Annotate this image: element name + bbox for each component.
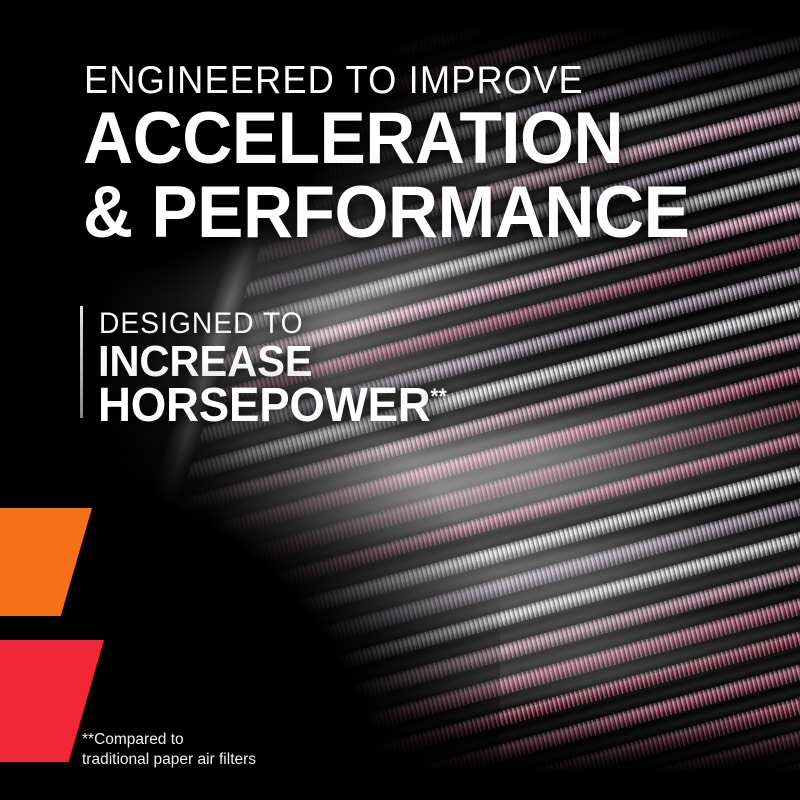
headline-line-1: ACCELERATION	[83, 102, 623, 175]
accent-shape-orange	[0, 508, 92, 616]
subhead-line-2: HORSEPOWER**	[98, 378, 447, 433]
footnote-text: **Compared to traditional paper air filt…	[82, 730, 256, 771]
footnote-marker: **	[431, 384, 447, 409]
headline-eyebrow: ENGINEERED TO IMPROVE	[84, 59, 584, 103]
subhead-vertical-rule	[80, 306, 83, 418]
banner-canvas: ENGINEERED TO IMPROVE ACCELERATION & PER…	[0, 0, 800, 800]
subhead-line-2-text: HORSEPOWER	[98, 379, 431, 432]
subhead-eyebrow: DESIGNED TO	[99, 307, 304, 341]
headline-line-2: & PERFORMANCE	[83, 176, 689, 249]
